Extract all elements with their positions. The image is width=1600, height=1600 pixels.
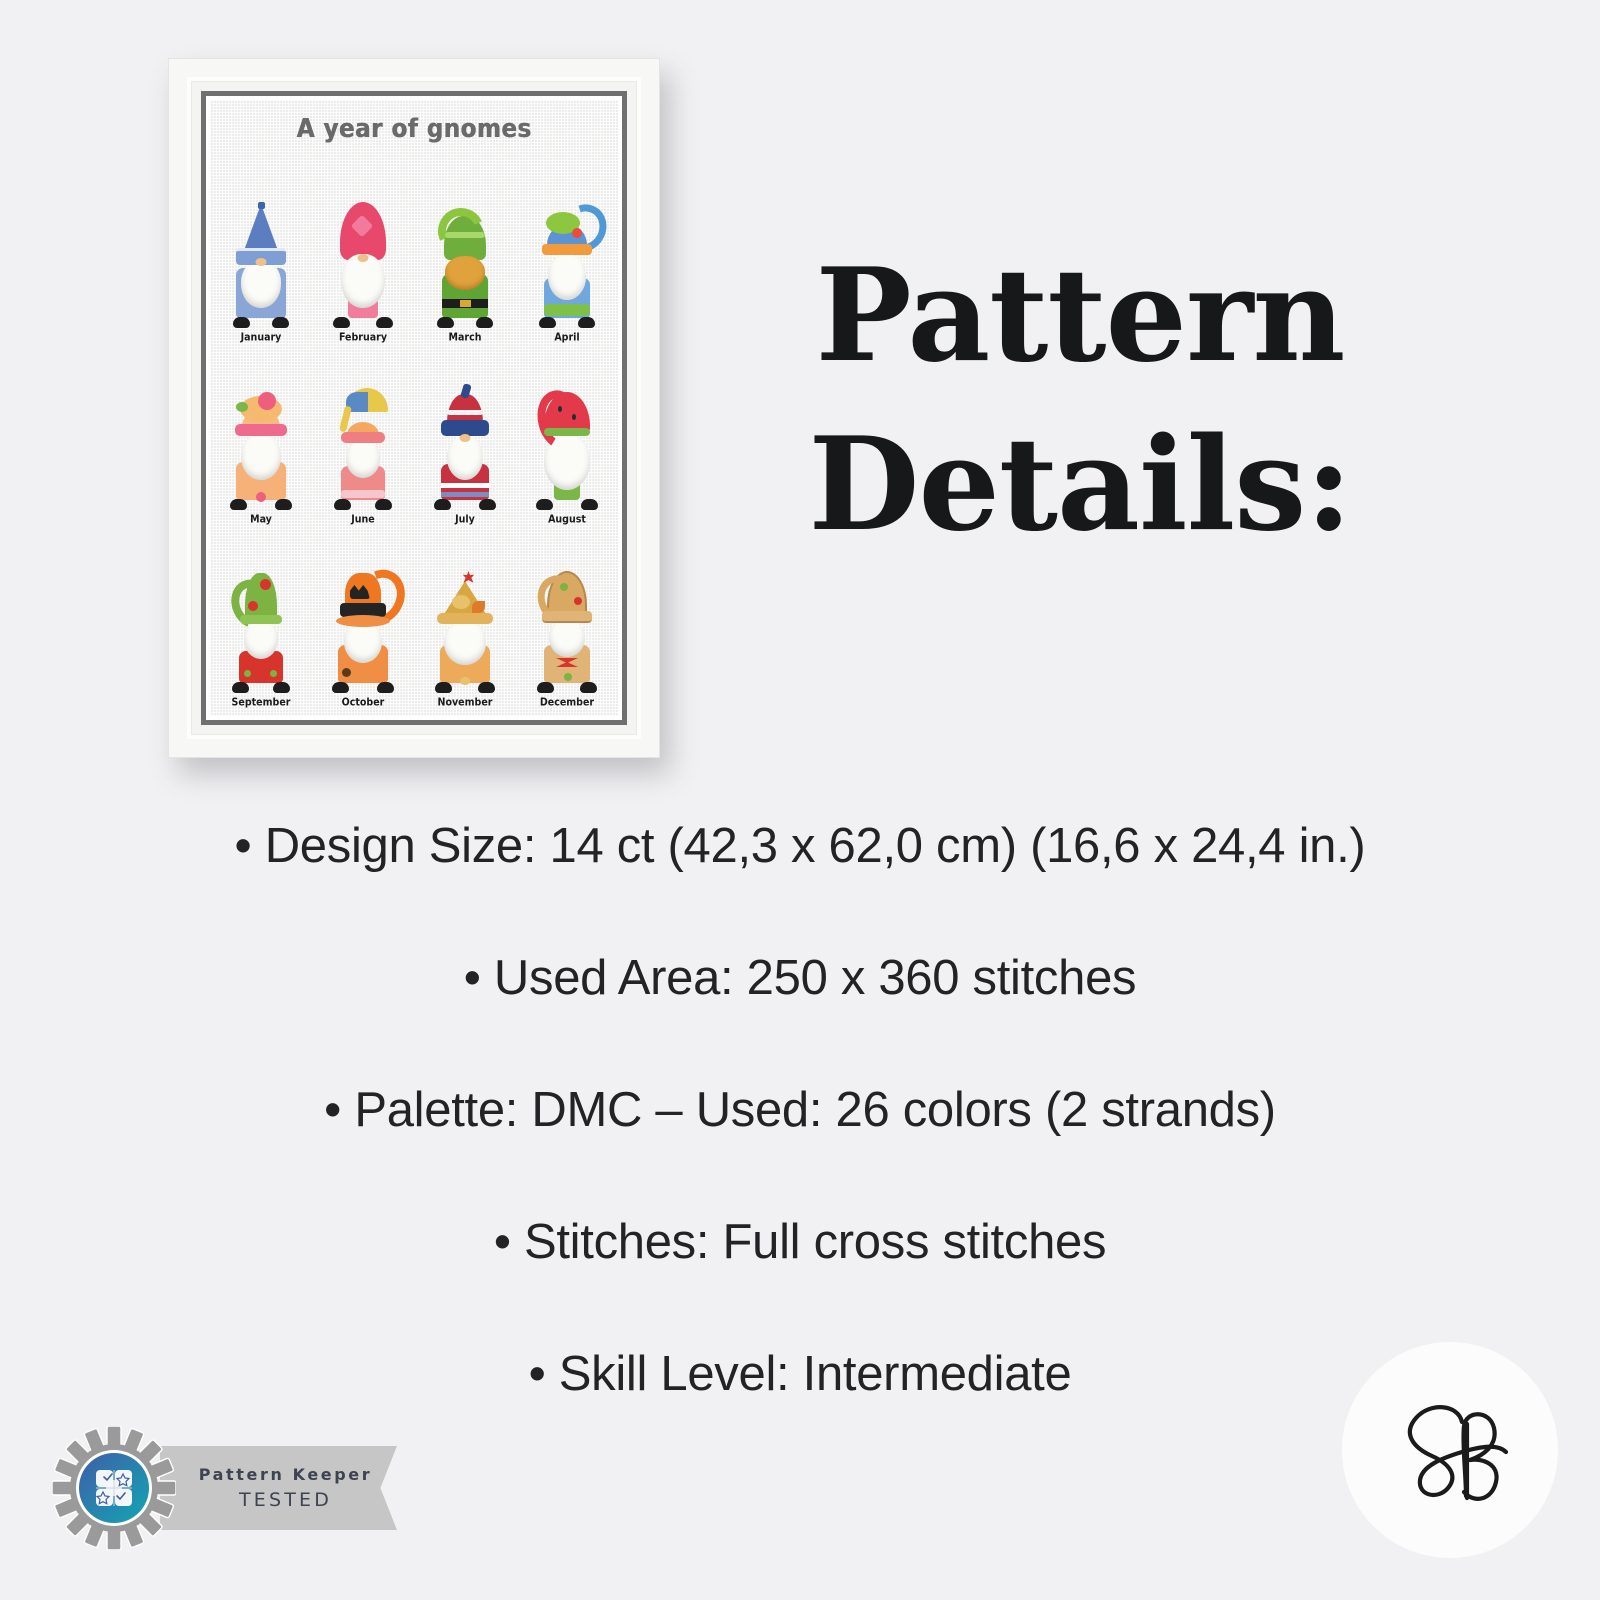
- gnome-art-may: [230, 384, 292, 512]
- gnome-cell-october: October: [312, 529, 414, 712]
- body-dots-2-icon: [270, 670, 277, 677]
- gnome-art-september: [230, 567, 292, 695]
- sb-monogram-icon: [1366, 1366, 1534, 1534]
- boot-right: [479, 499, 496, 510]
- gnome-art-april: [536, 202, 598, 330]
- hat-stripe-white-icon: [447, 410, 483, 415]
- month-label: August: [548, 514, 586, 527]
- boot-right: [578, 317, 595, 328]
- month-label: September: [232, 696, 291, 709]
- detail-design-size: • Design Size: 14 ct (42,3 x 62,0 cm) (1…: [0, 818, 1600, 874]
- boot-right: [580, 682, 597, 693]
- flower-button-icon: [256, 492, 266, 502]
- gnome-cell-june: June: [312, 347, 414, 530]
- pattern-artwork-title: A year of gnomes: [210, 114, 618, 143]
- gnome-art-february: [332, 202, 394, 330]
- beard: [447, 436, 483, 480]
- brand-logo: [1342, 1342, 1558, 1558]
- boot-left: [232, 682, 249, 693]
- boot-left: [435, 682, 452, 693]
- boot-left: [434, 499, 451, 510]
- boot-right: [478, 682, 495, 693]
- beard: [341, 254, 385, 308]
- frame-mat: A year of gnomes: [201, 91, 627, 725]
- cross-stitch-x-icon: [96, 1470, 132, 1506]
- badge-subtitle: TESTED: [239, 1489, 332, 1511]
- badge-text-wrap: Pattern Keeper TESTED: [160, 1446, 397, 1530]
- hat-brim-icon: [542, 611, 592, 623]
- boot-left: [332, 682, 349, 693]
- pattern-details-list: • Design Size: 14 ct (42,3 x 62,0 cm) (1…: [0, 818, 1600, 1478]
- hat-brim-icon: [341, 432, 385, 443]
- detail-used-area: • Used Area: 250 x 360 stitches: [0, 950, 1600, 1006]
- boot-right: [273, 682, 290, 693]
- hat-brim-icon: [240, 615, 282, 624]
- bow-icon: [460, 677, 470, 685]
- hat-brim-icon: [542, 244, 592, 255]
- hat-rind-icon: [544, 428, 590, 436]
- boot-right: [377, 682, 394, 693]
- beard: [445, 256, 485, 290]
- spider-icon: [342, 668, 351, 677]
- apple-icon: [260, 579, 271, 590]
- gnome-cell-november: November: [414, 529, 516, 712]
- boot-right: [376, 317, 393, 328]
- month-label: June: [351, 514, 375, 527]
- body-flowers-icon: [544, 304, 590, 316]
- gnome-art-august: [536, 384, 598, 512]
- leaf-gold-icon: [452, 595, 470, 609]
- month-label: July: [455, 514, 475, 527]
- beard: [241, 434, 281, 480]
- cross-stitch-canvas: A year of gnomes: [210, 100, 618, 716]
- badge-title: Pattern Keeper: [199, 1465, 373, 1484]
- gnome-cell-april: April: [516, 164, 618, 347]
- candy-dot-red-icon: [574, 597, 582, 605]
- frame-bevel: A year of gnomes: [187, 77, 641, 739]
- beard: [346, 440, 380, 478]
- beard: [444, 621, 486, 665]
- boot-right: [476, 317, 493, 328]
- hat-stripe-icon: [445, 232, 485, 238]
- belt-buckle-icon: [460, 300, 471, 307]
- boot-left: [536, 499, 553, 510]
- month-label: April: [554, 331, 579, 344]
- body-pattern-icon: [341, 490, 385, 498]
- detail-palette: • Palette: DMC – Used: 26 colors (2 stra…: [0, 1082, 1600, 1138]
- gnome-cell-september: September: [210, 529, 312, 712]
- boot-left: [334, 499, 351, 510]
- beard: [548, 254, 586, 300]
- month-label: January: [241, 331, 282, 344]
- button-green-icon: [564, 673, 572, 681]
- boot-left: [233, 317, 250, 328]
- beard: [549, 619, 585, 657]
- month-label: May: [250, 514, 272, 527]
- gnome-cell-july: July: [414, 347, 516, 530]
- pattern-keeper-badge: Pattern Keeper TESTED: [52, 1422, 397, 1552]
- flower-accent-icon: [572, 228, 582, 238]
- nose: [358, 254, 369, 262]
- page-title: Pattern Details:: [700, 232, 1460, 570]
- gnome-cell-may: May: [210, 347, 312, 530]
- hat-brim-icon: [235, 424, 287, 436]
- boot-right: [375, 499, 392, 510]
- boot-left: [230, 499, 247, 510]
- apple-2-icon: [248, 601, 258, 611]
- gnome-art-july: [434, 384, 496, 512]
- gnome-grid: January February: [210, 164, 618, 712]
- gnome-art-march: [434, 202, 496, 330]
- nose: [256, 258, 267, 266]
- gnome-cell-august: August: [516, 347, 618, 530]
- gnome-cell-february: February: [312, 164, 414, 347]
- gnome-art-january: [230, 202, 292, 330]
- beard: [344, 621, 382, 663]
- month-label: December: [540, 696, 594, 709]
- boot-left: [537, 682, 554, 693]
- month-label: October: [342, 696, 385, 709]
- gnome-cell-december: December: [516, 529, 618, 712]
- gnome-art-december: [536, 567, 598, 695]
- month-label: February: [339, 331, 387, 344]
- gnome-cell-march: March: [414, 164, 516, 347]
- gnome-art-june: [332, 384, 394, 512]
- hat-tip-icon: [258, 202, 265, 209]
- gnome-art-october: [332, 567, 394, 695]
- boot-right: [275, 499, 292, 510]
- body-stripes-icon: [441, 483, 489, 488]
- month-label: November: [438, 696, 493, 709]
- leaf-orange-icon: [472, 601, 485, 613]
- framed-artwork: A year of gnomes: [168, 58, 660, 758]
- boot-left: [539, 317, 556, 328]
- body-dots-icon: [244, 670, 251, 677]
- boot-left: [333, 317, 350, 328]
- boot-left: [437, 317, 454, 328]
- boot-right: [581, 499, 598, 510]
- mustache-icon: [336, 615, 390, 627]
- boot-right: [272, 317, 289, 328]
- detail-stitches: • Stitches: Full cross stitches: [0, 1214, 1600, 1270]
- page-title-line1: Pattern: [700, 232, 1460, 401]
- nose: [460, 434, 471, 442]
- candy-dot-green-icon: [560, 583, 568, 591]
- gnome-art-november: [434, 567, 496, 695]
- body-stripes-2-icon: [441, 492, 489, 497]
- hat-brim-icon: [437, 613, 493, 624]
- gnome-cell-january: January: [210, 164, 312, 347]
- month-label: March: [449, 331, 482, 344]
- beard: [241, 260, 281, 308]
- page-title-line2: Details:: [700, 401, 1460, 570]
- rosette-icon: [52, 1426, 176, 1550]
